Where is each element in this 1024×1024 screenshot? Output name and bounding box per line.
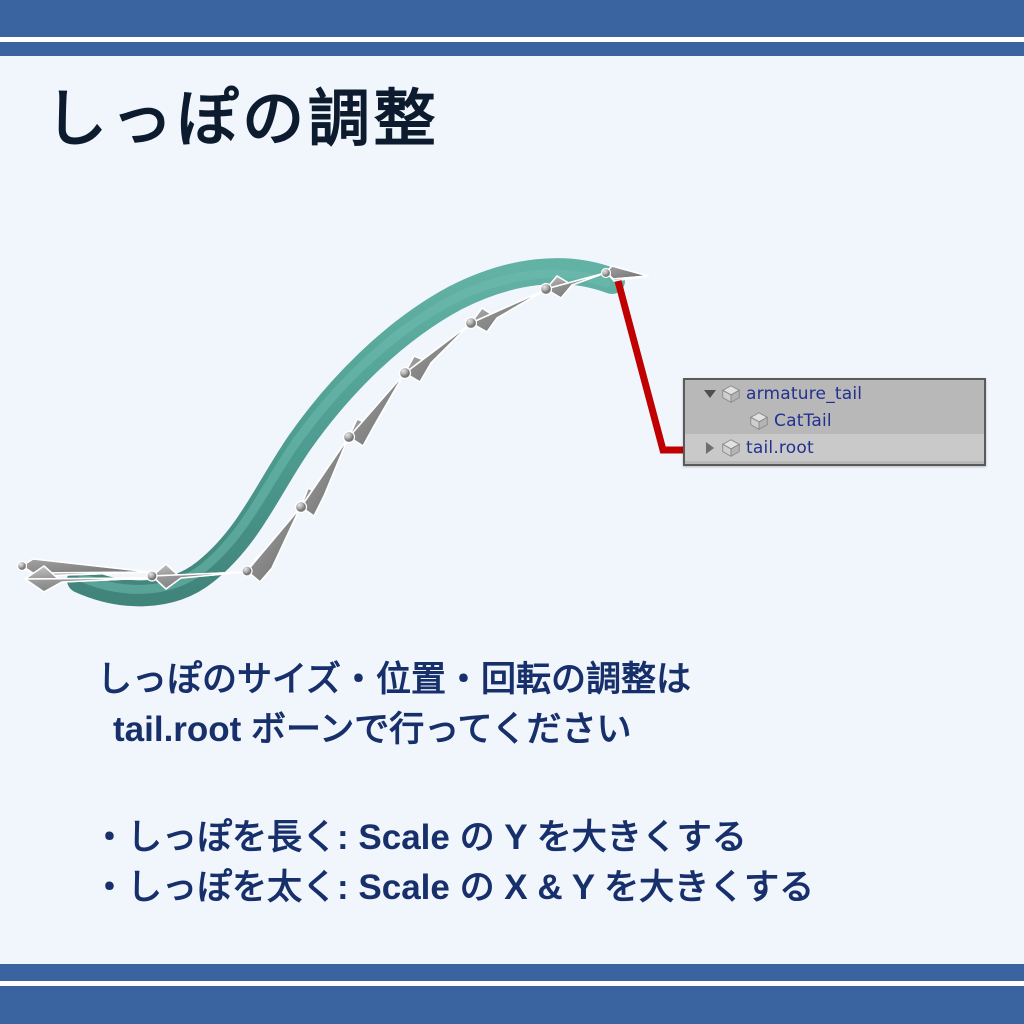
body-text-block: しっぽのサイズ・位置・回転の調整は tail.root ボーンで行ってください …: [0, 655, 1024, 913]
top-accent-band: [0, 0, 1024, 37]
object-cube-icon: [720, 383, 742, 405]
chevron-down-icon[interactable]: [703, 387, 717, 401]
outliner-row-cattail[interactable]: CatTail: [685, 407, 984, 434]
outliner-row-armature-tail[interactable]: armature_tail: [685, 380, 984, 407]
object-cube-icon: [720, 437, 742, 459]
outliner-panel[interactable]: armature_tail CatTail tail.root: [683, 378, 986, 466]
top-accent-band-thin: [0, 42, 1024, 56]
chevron-right-icon[interactable]: [703, 441, 717, 455]
bullet-item: ・しっぽを太く: Scale の X & Y を大きくする: [0, 863, 1024, 913]
outliner-row-label: armature_tail: [746, 384, 862, 404]
bottom-accent-band-thin: [0, 964, 1024, 981]
bullet-item: ・しっぽを長く: Scale の Y を大きくする: [0, 813, 1024, 863]
outliner-row-tail-root[interactable]: tail.root: [685, 434, 984, 461]
bottom-accent-band: [0, 986, 1024, 1024]
page-title: しっぽの調整: [45, 80, 439, 160]
object-cube-icon: [748, 410, 770, 432]
bullet-list: ・しっぽを長く: Scale の Y を大きくする ・しっぽを太く: Scale…: [0, 813, 1024, 913]
body-paragraph-line: しっぽのサイズ・位置・回転の調整は: [0, 655, 1024, 705]
body-paragraph-line: tail.root ボーンで行ってください: [0, 705, 1024, 755]
outliner-row-label: tail.root: [746, 438, 814, 458]
bone-chain: [18, 266, 649, 592]
slide-canvas: しっぽの調整: [0, 0, 1024, 1024]
outliner-row-label: CatTail: [774, 411, 832, 431]
